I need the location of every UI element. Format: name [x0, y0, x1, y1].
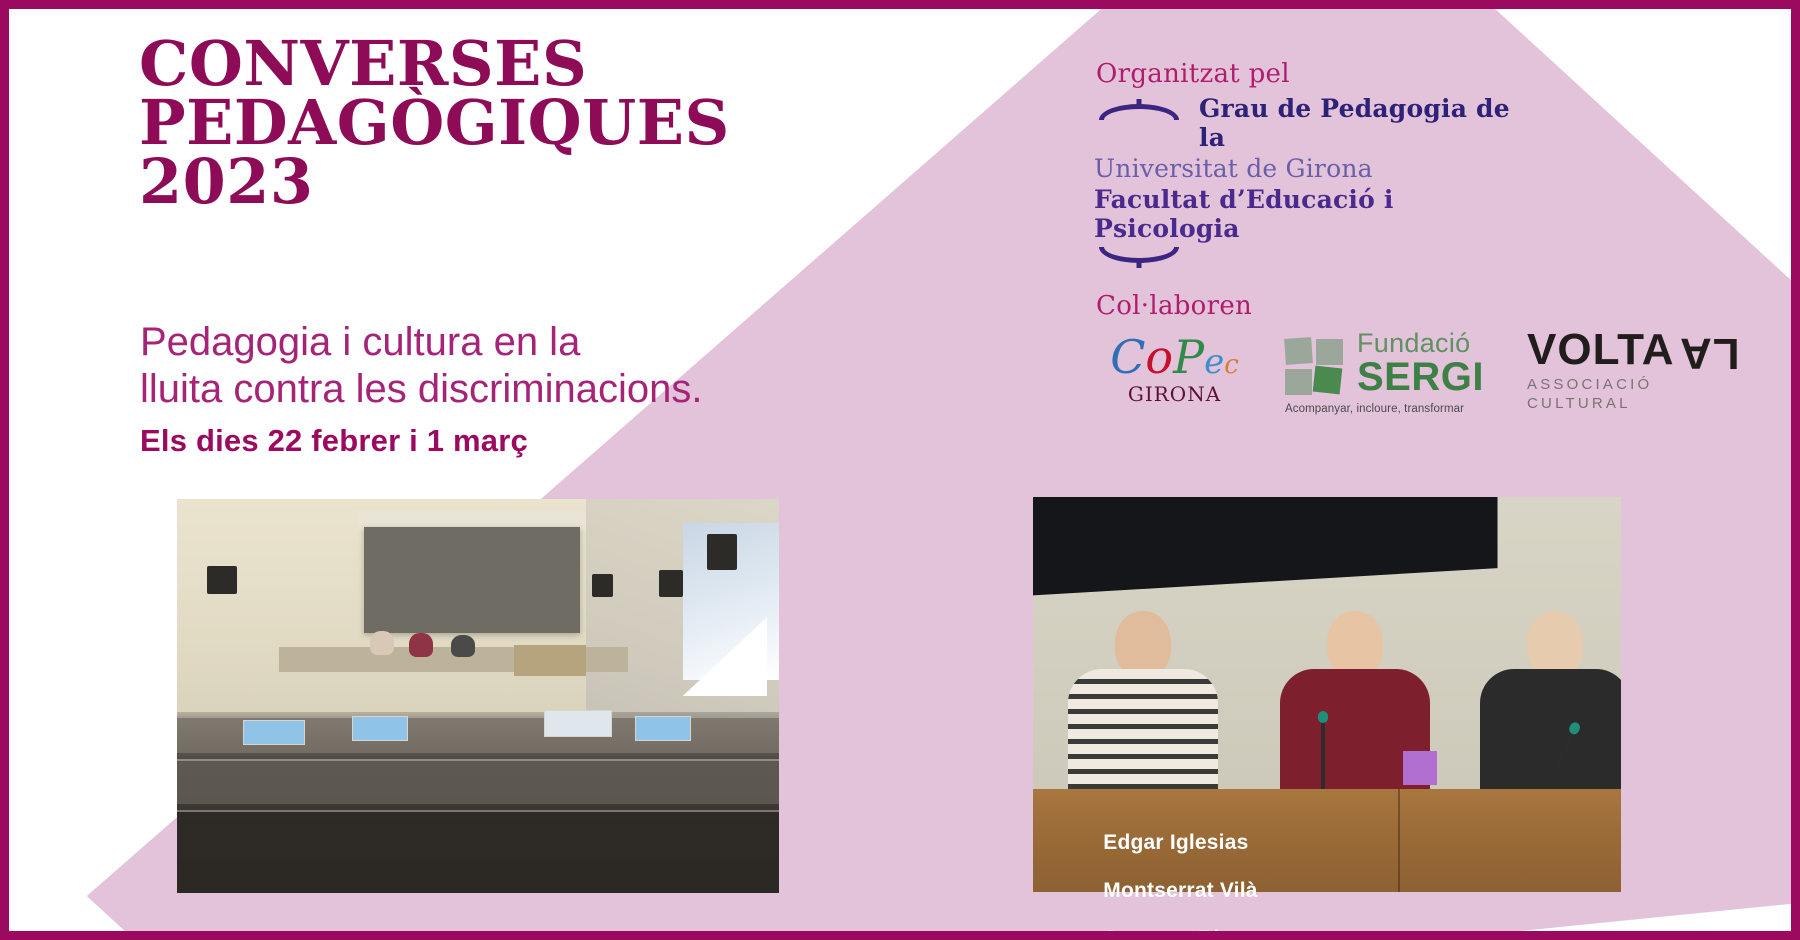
volta-flipped-mark: LA — [1679, 331, 1740, 375]
poster-subtitle: Pedagogia i cultura en la lluita contra … — [140, 319, 702, 413]
copec-logo: CoPec GIRONA — [1087, 334, 1262, 406]
copec-wordmark: CoPec — [1087, 334, 1262, 380]
collaborator-logos: CoPec GIRONA Fundació SERGI Acompanyar, … — [1087, 334, 1727, 444]
volta-logo: VOLTA ASSOCIACIÓ CULTURAL LA — [1527, 328, 1737, 414]
caption-name-1: Edgar Iglesias — [1103, 831, 1248, 855]
udg-logo-line1: Grau de Pedagogia de la — [1199, 94, 1544, 152]
photo-caption: Edgar Iglesias Montserrat Vilà Susagna R… — [1033, 797, 1621, 892]
sergi-word-fundacio: Fundació — [1357, 330, 1500, 357]
organizer-label: Organitzat pel — [1096, 59, 1290, 89]
page-title: CONVERSES PEDAGÒGIQUES 2023 — [139, 35, 730, 212]
brace-bottom-icon — [1099, 247, 1179, 263]
fundacio-sergi-logo: Fundació SERGI Acompanyar, incloure, tra… — [1285, 330, 1500, 415]
caption-name-2: Montserrat Vilà — [1103, 879, 1257, 903]
lecture-hall-photo — [177, 499, 779, 893]
microphone-icon — [1321, 719, 1325, 789]
projection-screen — [364, 527, 581, 633]
event-dates: Els dies 22 febrer i 1 març — [140, 423, 528, 459]
collaborators-label: Col·laboren — [1096, 291, 1252, 321]
caption-name-3: Susagna Riera — [1103, 927, 1252, 940]
udg-logo-line2: Universitat de Girona — [1094, 154, 1544, 183]
udg-logo-line3: Facultat d’Educació i Psicologia — [1094, 185, 1544, 243]
panelist-edgar — [1068, 611, 1218, 789]
blackboard — [1033, 497, 1498, 596]
lecture-hall-scene — [177, 499, 779, 893]
copec-subtitle: GIRONA — [1087, 382, 1262, 406]
pinwheel-squares-icon — [1285, 338, 1347, 398]
udg-logo: Grau de Pedagogia de la Universitat de G… — [1094, 104, 1544, 263]
brace-top-icon — [1099, 104, 1179, 120]
panelist-susagna — [1480, 611, 1621, 789]
caption-names: Edgar Iglesias Montserrat Vilà Susagna R… — [1055, 807, 1621, 940]
sergi-word-sergi: SERGI — [1357, 357, 1500, 397]
poster-canvas: CONVERSES PEDAGÒGIQUES 2023 Pedagogia i … — [0, 0, 1800, 940]
sergi-tagline: Acompanyar, incloure, transformar — [1285, 403, 1500, 415]
purple-sign — [1403, 751, 1437, 785]
volta-subtitle: ASSOCIACIÓ CULTURAL — [1527, 376, 1737, 414]
